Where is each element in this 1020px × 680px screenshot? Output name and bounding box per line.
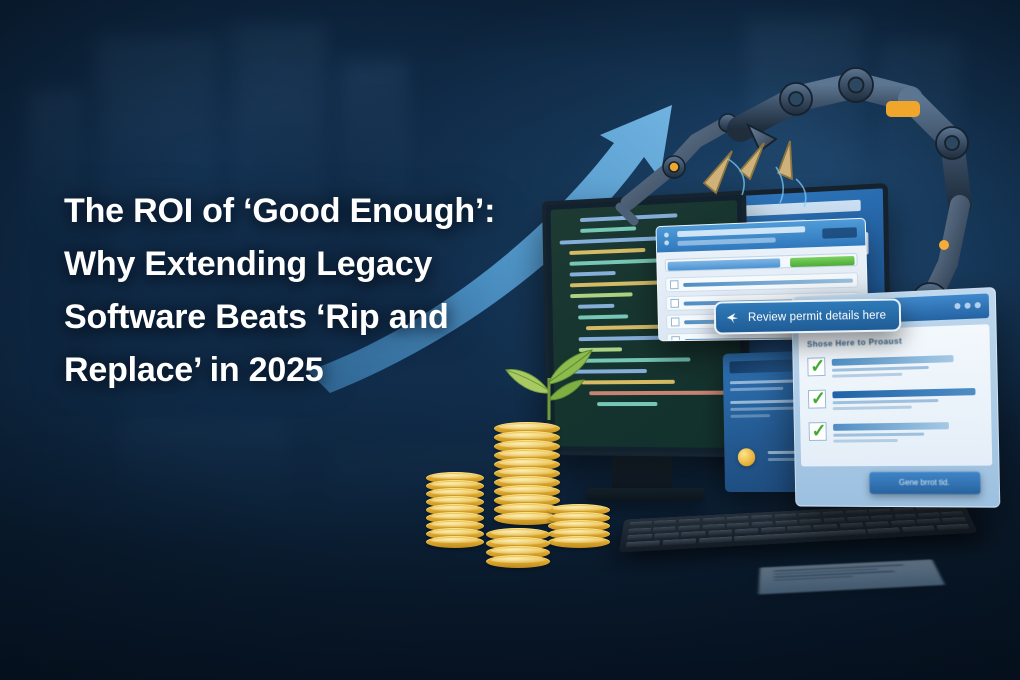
cursor-arrow-icon	[725, 310, 740, 325]
check-icon	[807, 357, 825, 376]
checklist-action-button[interactable]: Gene brrot tid.	[869, 472, 980, 494]
gold-coin-stacks	[420, 410, 630, 570]
checklist-heading: Shose Here to Proaust	[807, 333, 981, 349]
item-text	[832, 386, 982, 413]
tooltip-label: Review permit details here	[748, 309, 886, 323]
progress-bar	[665, 253, 858, 272]
close-x-icon[interactable]: ✕	[962, 287, 979, 291]
hero-banner: ✕ Shose Here to Proaust	[0, 0, 1020, 680]
headline-line-3: Software Beats ‘Rip and	[64, 291, 534, 344]
headline-line-1: The ROI of ‘Good Enough’:	[64, 185, 534, 238]
coin-circle-icon	[738, 448, 756, 466]
page-title: The ROI of ‘Good Enough’: Why Extending …	[64, 185, 534, 397]
checklist-item[interactable]	[808, 386, 982, 414]
check-icon	[808, 390, 826, 409]
headline-line-2: Why Extending Legacy	[64, 238, 534, 291]
checklist-item[interactable]	[807, 352, 981, 381]
item-text	[833, 420, 983, 446]
headline-line-4: Replace’ in 2025	[64, 344, 534, 397]
check-icon	[809, 422, 827, 441]
item-text	[832, 352, 982, 381]
checklist-item[interactable]	[809, 420, 983, 446]
permit-row[interactable]	[665, 272, 858, 292]
tooltip-review-permit[interactable]: Review permit details here	[714, 298, 902, 334]
